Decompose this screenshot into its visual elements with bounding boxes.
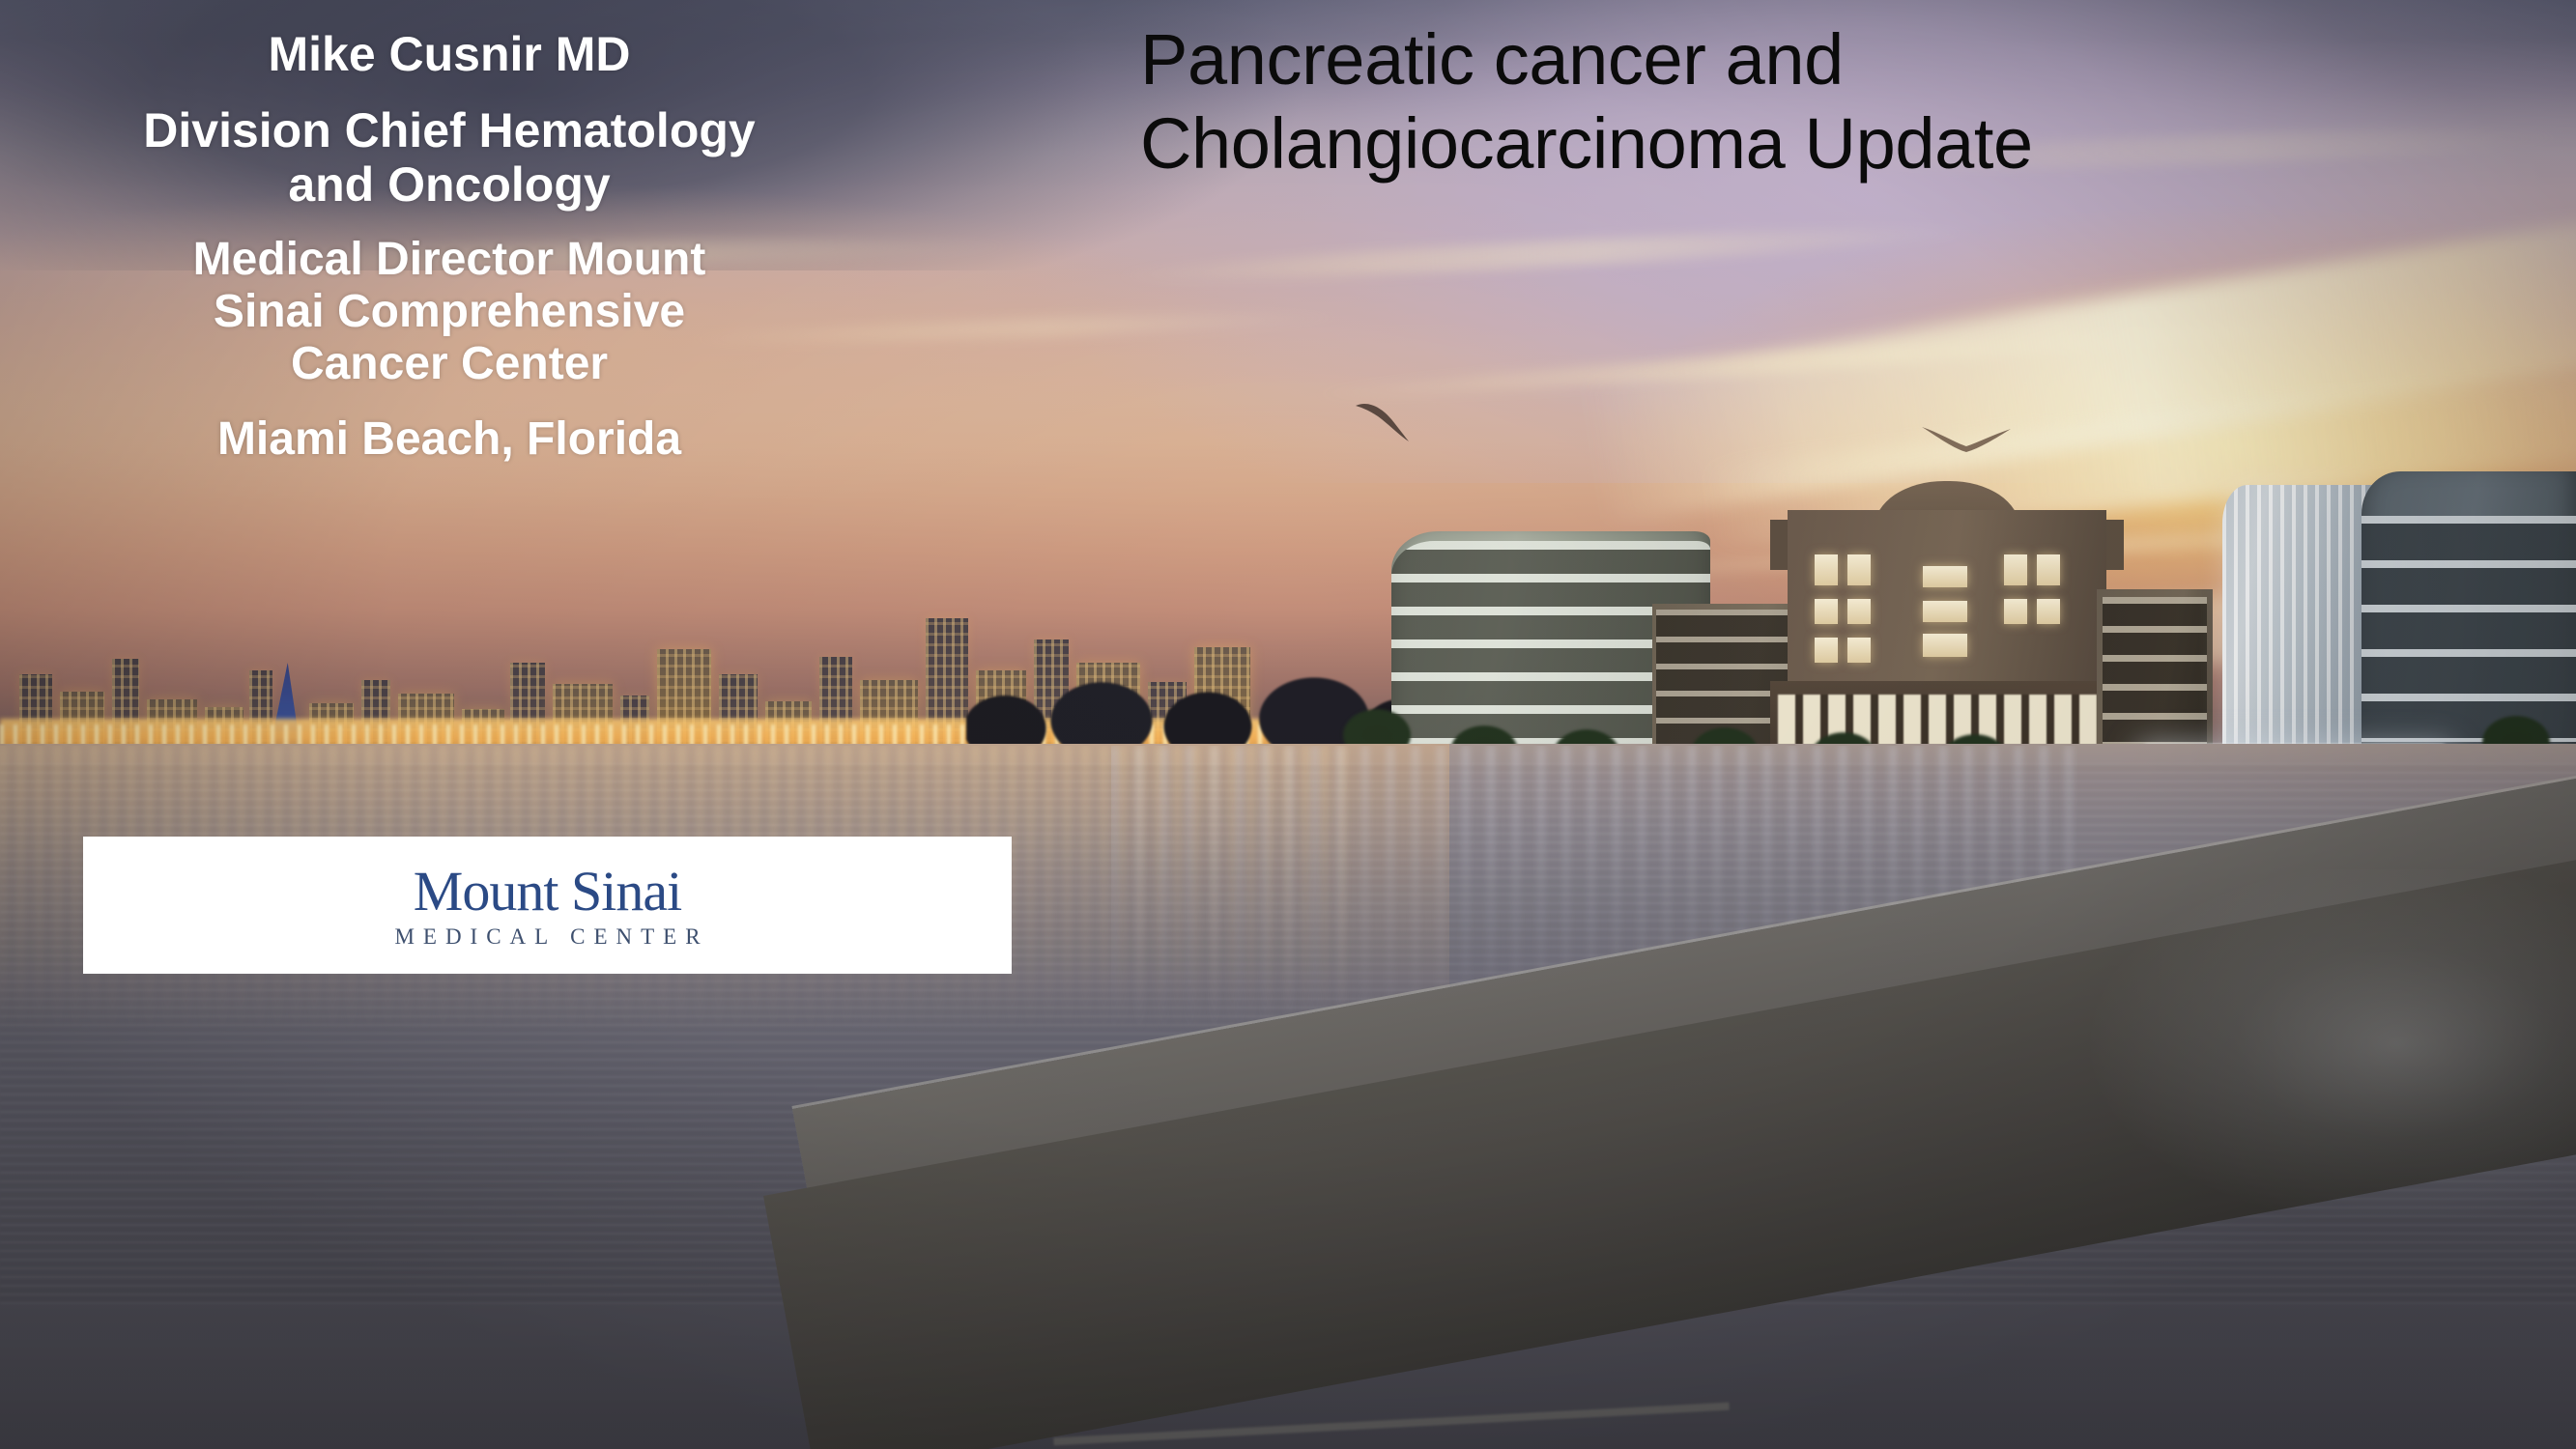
rear-block-building — [2097, 589, 2213, 763]
presenter-role: Division Chief Hematology and Oncology — [29, 103, 870, 213]
presenter-location: Miami Beach, Florida — [29, 413, 870, 466]
presenter-name: Mike Cusnir MD — [29, 27, 870, 82]
mount-sinai-logo: Mount Sinai MEDICAL CENTER — [83, 837, 1012, 974]
presenter-affiliation: Medical Director Mount Sinai Comprehensi… — [29, 234, 870, 391]
logo-wordmark: Mount Sinai — [414, 864, 681, 920]
title-line-2: Cholangiocarcinoma Update — [1140, 101, 2358, 185]
miami-skyline — [0, 560, 1430, 763]
glass-atrium-tower — [2222, 485, 2377, 765]
lower-right-glow — [1977, 869, 2576, 1217]
presentation-slide: Pancreatic cancer and Cholangiocarcinoma… — [0, 0, 2576, 1449]
title-line-1: Pancreatic cancer and — [1140, 17, 2358, 101]
slide-title: Pancreatic cancer and Cholangiocarcinoma… — [1140, 17, 2358, 186]
presenter-info-block: Mike Cusnir MD Division Chief Hematology… — [29, 27, 870, 466]
logo-tagline: MEDICAL CENTER — [386, 925, 708, 948]
